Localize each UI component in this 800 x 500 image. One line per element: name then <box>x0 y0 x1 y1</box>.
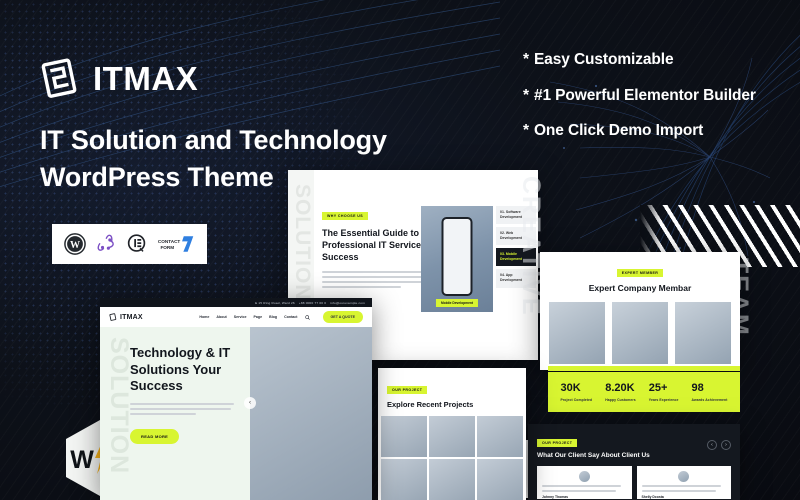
projects-title: Explore Recent Projects <box>387 400 526 409</box>
hero-subtext <box>130 403 234 415</box>
mockup-projects-section[interactable]: OUR PROJECT Explore Recent Projects <box>378 368 526 500</box>
chevron-right-icon[interactable]: › <box>721 440 731 450</box>
testimonial-name: Johnny Thomas <box>542 495 627 499</box>
projects-header: OUR PROJECT Explore Recent Projects <box>378 368 526 409</box>
nav-item-home[interactable]: Home <box>199 315 209 319</box>
brand-logo: ITMAX <box>38 56 198 100</box>
stat-item: 8.20K Happy Customers <box>605 383 636 402</box>
get-a-quote-button[interactable]: GET A QUOTE <box>323 311 364 323</box>
mockup-testimonials-section[interactable]: OUR PROJECT What Our Client Say About Cl… <box>528 424 740 500</box>
blog-phone-image: Mobile Development <box>421 206 493 312</box>
mockup-hero: SOLUTION Technology & IT Solutions Your … <box>100 327 372 500</box>
testimonials-title: What Our Client Say About Client Us <box>537 452 657 460</box>
team-member-card[interactable]: Max Antona Manager <box>549 302 605 370</box>
feature-label: Easy Customizable <box>534 51 674 68</box>
bullet-star-icon: * <box>523 88 529 104</box>
project-thumbnail[interactable] <box>429 416 475 457</box>
nav-item-page[interactable]: Page <box>254 315 263 319</box>
brand-name: ITMAX <box>93 62 198 95</box>
mockup-nav-logo[interactable]: ITMAX <box>109 313 143 321</box>
team-badge: EXPERT MEMBER <box>617 269 664 277</box>
blog-image-label: Mobile Development <box>436 299 478 307</box>
projects-badge: OUR PROJECT <box>387 386 427 394</box>
projects-grid <box>378 409 526 500</box>
poster-stage: ITMAX IT Solution and Technology WordPre… <box>0 0 800 500</box>
nav-item-blog[interactable]: Blog <box>269 315 277 319</box>
mockup-hero-left: SOLUTION Technology & IT Solutions Your … <box>100 327 250 500</box>
mockup-nav-brand: ITMAX <box>120 314 143 321</box>
blog-badge: WHY CHOOSE US <box>322 212 368 220</box>
blog-excerpt <box>322 271 432 288</box>
team-member-photo <box>675 302 731 364</box>
nav-item-contact[interactable]: Contact <box>284 315 297 319</box>
redux-icon <box>95 233 117 255</box>
stat-item: 98 Awards Achievement <box>692 383 728 402</box>
team-member-photo <box>549 302 605 364</box>
feature-label: One Click Demo Import <box>534 122 703 139</box>
nav-item-about[interactable]: About <box>216 315 226 319</box>
itmax-logo-icon <box>109 313 117 321</box>
testimonial-card[interactable]: Shelly Dcosta <box>637 466 732 499</box>
topbar-email: info@ourexample.com <box>330 301 365 305</box>
project-thumbnail[interactable] <box>381 416 427 457</box>
testimonial-cards: Johnny Thomas Shelly Dcosta <box>528 460 740 499</box>
team-header: EXPERT MEMBER Expert Company Membar <box>540 252 740 293</box>
hero-cta-button[interactable]: READ MORE <box>130 429 179 444</box>
testimonial-name: Shelly Dcosta <box>642 495 727 499</box>
wordpress-icon: W <box>64 233 86 255</box>
stat-value: 8.20K <box>605 383 636 394</box>
bullet-star-icon: * <box>523 52 529 68</box>
feature-label: #1 Powerful Elementor Builder <box>534 87 756 104</box>
bullet-star-icon: * <box>523 123 529 139</box>
svg-text:W: W <box>70 240 80 251</box>
avatar <box>579 471 590 482</box>
stat-item: 30K Project Completed <box>561 383 593 402</box>
contact-form-7-icon: CONTACT FORM <box>157 233 195 255</box>
stat-item: 25+ Years Experience <box>649 383 679 402</box>
team-grid: Max Antona Manager Lara Okjama Developer… <box>540 293 740 370</box>
service-number: 03. <box>500 252 505 256</box>
feature-item: *One Click Demo Import <box>523 123 756 139</box>
topbar-phone: +88 0000 77 00 0 <box>299 301 326 305</box>
carousel-prev-icon[interactable]: ‹ <box>244 397 256 409</box>
stat-label: Happy Customers <box>605 398 636 402</box>
team-member-card[interactable]: Reane Erica Marketing <box>675 302 731 370</box>
stat-value: 25+ <box>649 383 679 394</box>
stat-label: Awards Achievement <box>692 398 728 402</box>
project-thumbnail[interactable] <box>381 459 427 500</box>
svg-text:W: W <box>70 446 94 474</box>
topbar-address: E 15 Ring Road, Ward 26 <box>255 301 295 305</box>
chevron-left-icon[interactable]: ‹ <box>707 440 717 450</box>
team-title: Expert Company Membar <box>540 283 740 293</box>
plugin-logo-strip: W CONTACT FORM <box>52 224 207 264</box>
mockup-team-section[interactable]: EXPERT MEMBER Expert Company Membar Max … <box>540 252 740 370</box>
stats-top-accent <box>548 366 740 371</box>
testimonials-badge: OUR PROJECT <box>537 439 577 447</box>
blog-vertical-word: SOLUTION <box>290 184 314 301</box>
search-icon[interactable] <box>305 315 310 320</box>
service-number: 01. <box>500 210 505 214</box>
avatar <box>678 471 689 482</box>
mockup-navbar[interactable]: ITMAX Home About Service Page Blog Conta… <box>100 307 372 327</box>
feature-item: *Easy Customizable <box>523 52 756 68</box>
project-thumbnail[interactable] <box>477 459 523 500</box>
hero-vertical-word: SOLUTION <box>104 337 133 474</box>
stat-value: 98 <box>692 383 728 394</box>
mockup-hero-image: ‹ <box>250 327 372 500</box>
elementor-icon <box>126 233 148 255</box>
service-number: 02. <box>500 231 505 235</box>
stats-bar: 30K Project Completed 8.20K Happy Custom… <box>548 372 740 412</box>
testimonial-card[interactable]: Johnny Thomas <box>537 466 632 499</box>
testimonials-nav[interactable]: ‹ › <box>707 440 731 450</box>
feature-list: *Easy Customizable *#1 Powerful Elemento… <box>523 52 756 159</box>
svg-text:FORM: FORM <box>161 245 175 250</box>
itmax-logo-icon <box>38 56 82 100</box>
stat-label: Years Experience <box>649 398 679 402</box>
mockup-homepage[interactable]: E 15 Ring Road, Ward 26 +88 0000 77 00 0… <box>100 298 372 500</box>
mockup-nav-menu[interactable]: Home About Service Page Blog Contact GET… <box>199 311 363 323</box>
hero-title: Technology & IT Solutions Your Success <box>130 345 238 395</box>
stat-label: Project Completed <box>561 398 593 402</box>
stat-value: 30K <box>561 383 593 394</box>
phone-device-icon <box>442 217 473 296</box>
feature-item: *#1 Powerful Elementor Builder <box>523 88 756 104</box>
mockup-topbar: E 15 Ring Road, Ward 26 +88 0000 77 00 0… <box>100 298 372 307</box>
project-thumbnail[interactable] <box>429 459 475 500</box>
team-member-card[interactable]: Lara Okjama Developer <box>612 302 668 370</box>
project-thumbnail[interactable] <box>477 416 523 457</box>
nav-item-service[interactable]: Service <box>234 315 247 319</box>
svg-text:CONTACT: CONTACT <box>158 239 181 244</box>
team-member-photo <box>612 302 668 364</box>
service-number: 04. <box>500 273 505 277</box>
